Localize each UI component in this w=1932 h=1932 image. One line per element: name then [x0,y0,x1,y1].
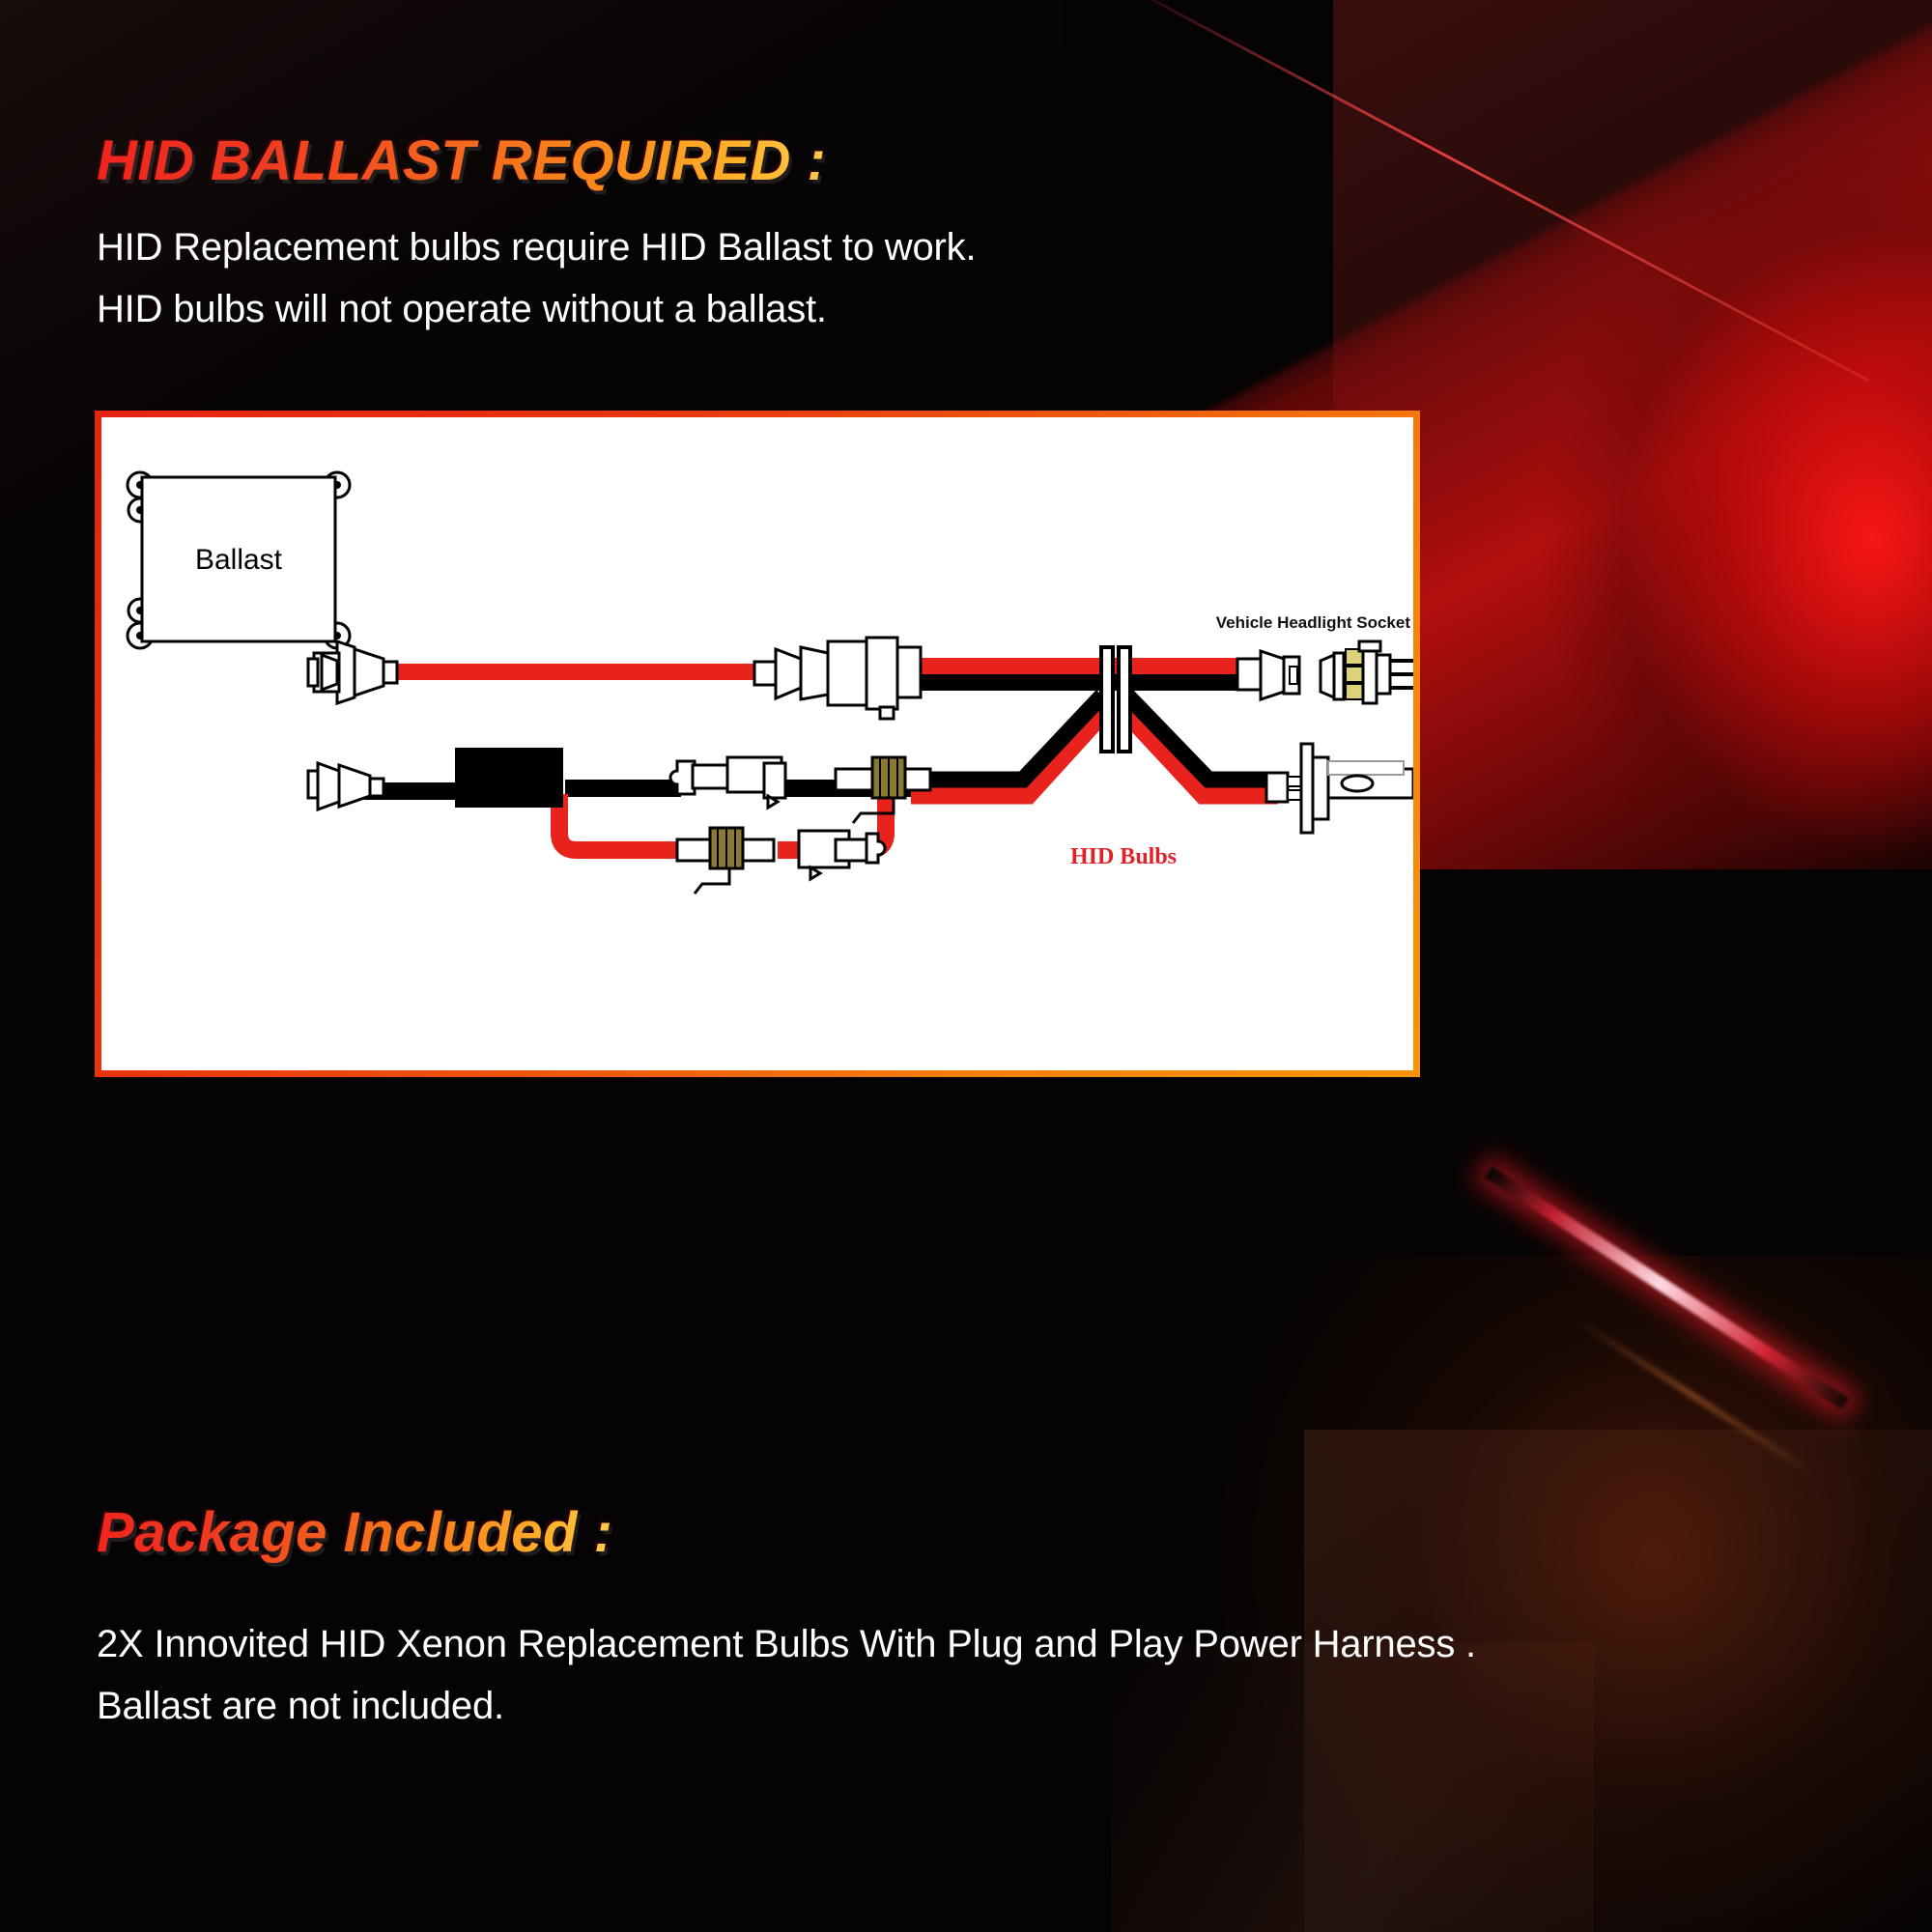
background-light-streak [1485,1166,1849,1408]
ballast-output-boot-bottom [308,763,384,810]
background-lower-left-shade [1111,1642,1594,1932]
ballast-output-boot-top [308,641,397,703]
section-one-line-1: HID Replacement bulbs require HID Ballas… [97,226,976,270]
ballast-label: Ballast [195,544,283,576]
wire-red-drop [559,794,681,850]
ferrule-lower [710,828,743,868]
background-streak-soft [1572,1316,1817,1478]
section-one-heading: HID BALLAST REQUIRED : [97,128,826,193]
ferrule-upper [872,757,905,798]
background-dark-diagonal [1333,0,1932,541]
background-hairline [1100,0,1869,382]
wire-black-lower-mid [565,780,681,797]
promo-page: HID BALLAST REQUIRED : HID Replacement b… [0,0,1932,1932]
vehicle-headlight-socket-plug: Vehicle Headlight Socket [1216,613,1413,703]
hid-bulbs-label: HID Bulbs [1070,844,1177,869]
spade-connector-pair-lower [677,828,885,894]
inline-connector-barrel [754,638,921,719]
section-two-line-1: 2X Innovited HID Xenon Replacement Bulbs… [97,1623,1476,1666]
wire-black-v-left [911,696,1102,780]
hid-bulb-right [1266,744,1413,833]
wire-black-to-socket [1029,674,1251,691]
wiring-diagram-panel: Ballast [95,411,1420,1077]
black-igniter-block [455,748,563,808]
wiring-diagram-svg: Ballast [101,417,1413,1070]
section-one-line-2: HID bulbs will not operate without a bal… [97,288,827,331]
wire-red-main-upper [335,664,770,680]
background-lower-dark-panel [1304,1430,1932,1932]
section-two-line-2: Ballast are not included. [97,1685,504,1728]
socket-gold-pins [1346,649,1363,699]
background-bottom-glow [1198,1256,1932,1932]
wire-red-to-socket [1029,658,1251,674]
vehicle-headlight-socket-label: Vehicle Headlight Socket [1216,613,1411,632]
section-two-heading: Package Included : [97,1500,612,1565]
ballast-box: Ballast [128,472,350,648]
